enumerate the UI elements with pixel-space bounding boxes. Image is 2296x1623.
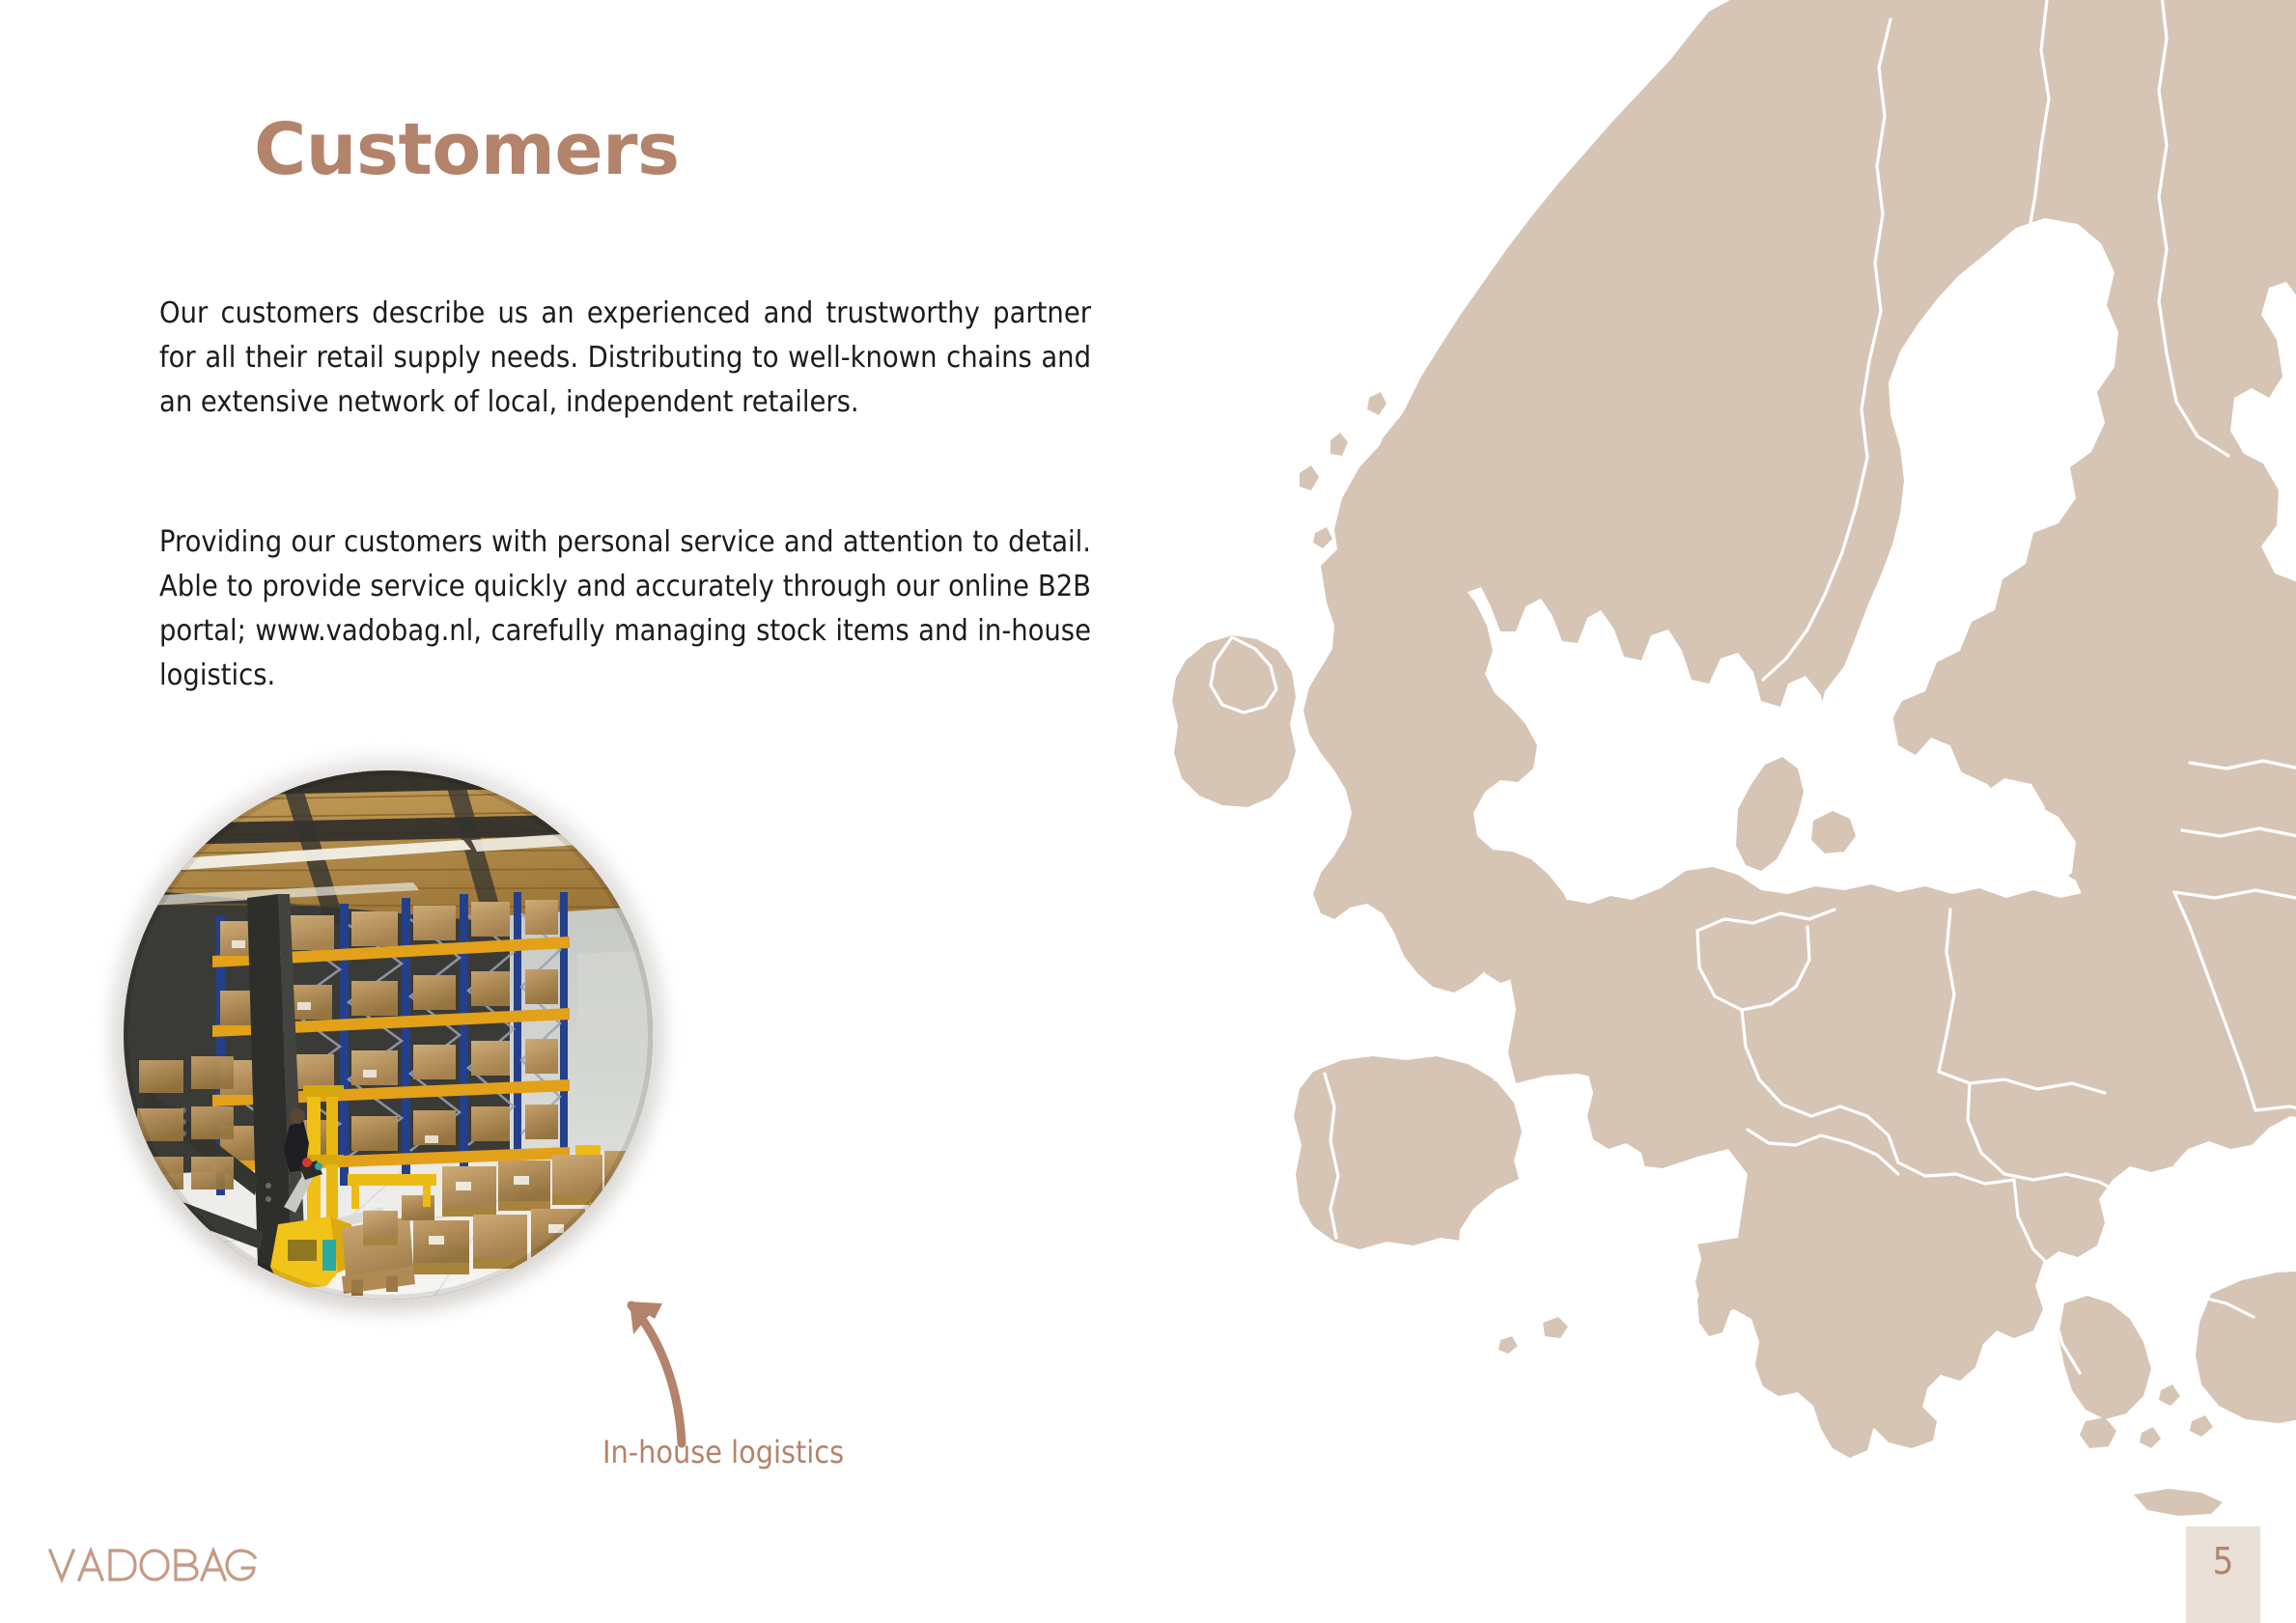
service-paragraph: Providing our customers with personal se… (159, 520, 1091, 698)
intro-paragraph: Our customers describe us an experienced… (159, 292, 1091, 425)
page-number: 5 (2186, 1526, 2260, 1623)
photo-caption: In-house logistics (602, 1434, 844, 1470)
photo-circle-mask (124, 770, 653, 1300)
warehouse-illustration (124, 770, 653, 1300)
map-landmasses (1172, 0, 2296, 1516)
page-number-badge: 5 (2186, 1526, 2260, 1623)
europe-map-svg: .land{ fill:#d6c5b5; } .bord{ fill:none;… (1072, 0, 2296, 1623)
page-title: Customers (254, 114, 680, 185)
vadobag-wordmark (46, 1541, 261, 1589)
warehouse-photo (124, 770, 653, 1300)
europe-map: .land{ fill:#d6c5b5; } .bord{ fill:none;… (1072, 0, 2296, 1623)
vadobag-logo (46, 1541, 261, 1589)
